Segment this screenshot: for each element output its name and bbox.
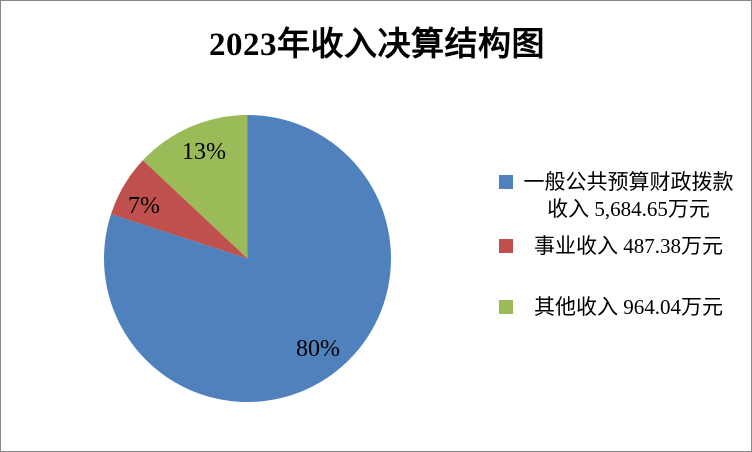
legend-label-general-budget: 一般公共预算财政拨款收入 5,684.65万元 [520,169,737,223]
pie-chart-plot-area [104,115,391,402]
legend-swatch-other-income [499,300,513,314]
slice-label-operating-income: 7% [128,193,160,220]
legend-swatch-operating-income [499,239,513,253]
slice-label-general-budget: 80% [296,336,340,363]
legend-item-other-income[interactable]: 其他收入 964.04万元 [499,294,737,321]
legend-label-operating-income: 事业收入 487.38万元 [520,233,737,260]
legend-swatch-general-budget [499,175,513,189]
pie-svg [104,115,391,402]
chart-title: 2023年收入决算结构图 [1,17,752,65]
legend-item-operating-income[interactable]: 事业收入 487.38万元 [499,233,737,260]
chart-legend: 一般公共预算财政拨款收入 5,684.65万元 事业收入 487.38万元 其他… [499,169,737,325]
legend-item-general-budget[interactable]: 一般公共预算财政拨款收入 5,684.65万元 [499,169,737,223]
slice-label-other-income: 13% [182,139,226,166]
legend-label-other-income: 其他收入 964.04万元 [520,294,737,321]
pie-chart-frame: 2023年收入决算结构图 80% 7% 13% 一般公共预算财政拨款收入 5,6… [0,0,752,452]
